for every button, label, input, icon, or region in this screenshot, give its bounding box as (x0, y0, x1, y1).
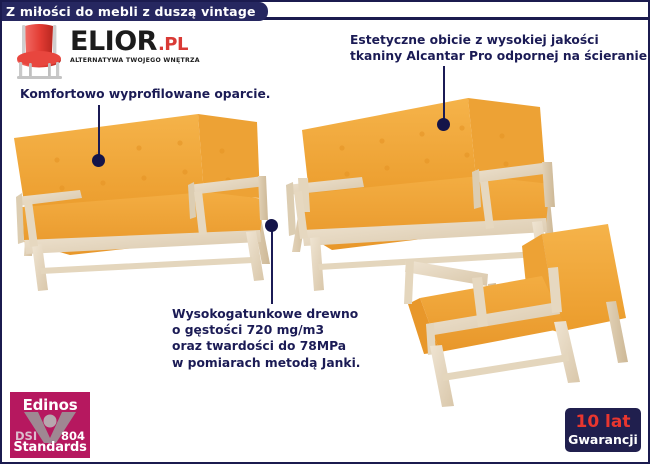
annotation-wood-line-2: o gęstości 720 mg/m3 (172, 322, 360, 338)
logo-wordmark: ELIOR.PL ALTERNATYWA TWOJEGO WNĘTRZA (70, 28, 192, 64)
logo-name: ELIOR (70, 28, 157, 55)
brand-logo: ELIOR.PL ALTERNATYWA TWOJEGO WNĘTRZA (12, 22, 192, 80)
annotation-fabric-line-2: tkaniny Alcantar Pro odpornej na ścieran… (350, 48, 650, 64)
edinos-standards-badge: Edinos DSI 804 Standards (10, 392, 90, 458)
leader-dot-fabric (437, 118, 450, 131)
leader-line-fabric (443, 66, 445, 124)
annotation-backrest: Komfortowo wyprofilowane oparcie. (20, 86, 270, 102)
logo-suffix: .PL (158, 36, 188, 54)
logo-name-row: ELIOR.PL (70, 28, 192, 55)
annotation-wood-line-4: w pomiarach metodą Janki. (172, 355, 360, 371)
loveseat-2-seater (14, 114, 270, 291)
tagline-banner: Z miłości do mebli z duszą vintage (0, 2, 268, 21)
warranty-years: 10 lat (575, 414, 630, 431)
warranty-badge: 10 lat Gwarancji (565, 408, 641, 452)
leader-line-backrest (98, 105, 100, 160)
red-chair-icon (12, 22, 68, 80)
annotation-fabric-line-1: Estetyczne obicie z wysokiej jakości (350, 32, 650, 48)
tagline-banner-text: Z miłości do mebli z duszą vintage (6, 4, 256, 19)
warranty-label: Gwarancji (568, 434, 638, 447)
annotation-wood: Wysokogatunkowe drewno o gęstości 720 mg… (172, 306, 360, 371)
sofa-3-seater (286, 98, 555, 291)
annotation-wood-line-3: oraz twardości do 78MPa (172, 338, 360, 354)
leader-dot-wood (265, 219, 278, 232)
edinos-badge-subtitle: Standards (10, 440, 90, 455)
annotation-fabric: Estetyczne obicie z wysokiej jakości tka… (350, 32, 650, 64)
annotation-backrest-line-1: Komfortowo wyprofilowane oparcie. (20, 86, 270, 102)
leader-dot-backrest (92, 154, 105, 167)
leader-line-wood (271, 230, 273, 304)
logo-tagline: ALTERNATYWA TWOJEGO WNĘTRZA (70, 57, 194, 64)
product-infographic: Z miłości do mebli z duszą vintage (0, 0, 650, 464)
armchair (404, 224, 628, 407)
annotation-wood-line-1: Wysokogatunkowe drewno (172, 306, 360, 322)
